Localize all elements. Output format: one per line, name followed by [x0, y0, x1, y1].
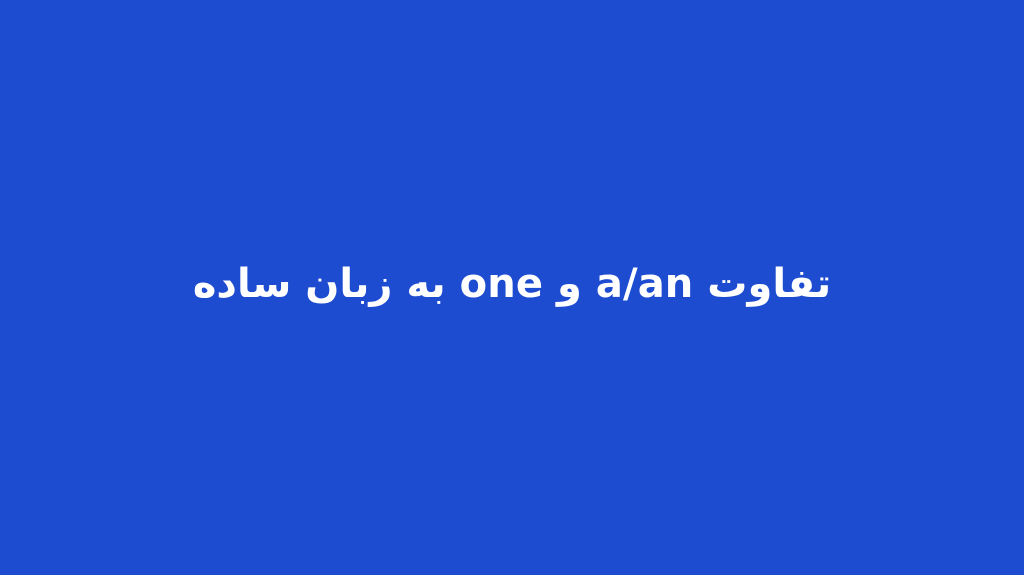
page-title: تفاوت a/an و one به زبان ساده	[193, 260, 831, 309]
headline-block: تفاوت a/an و one به زبان ساده	[0, 260, 1024, 309]
title-slide: تفاوت a/an و one به زبان ساده	[0, 0, 1024, 575]
